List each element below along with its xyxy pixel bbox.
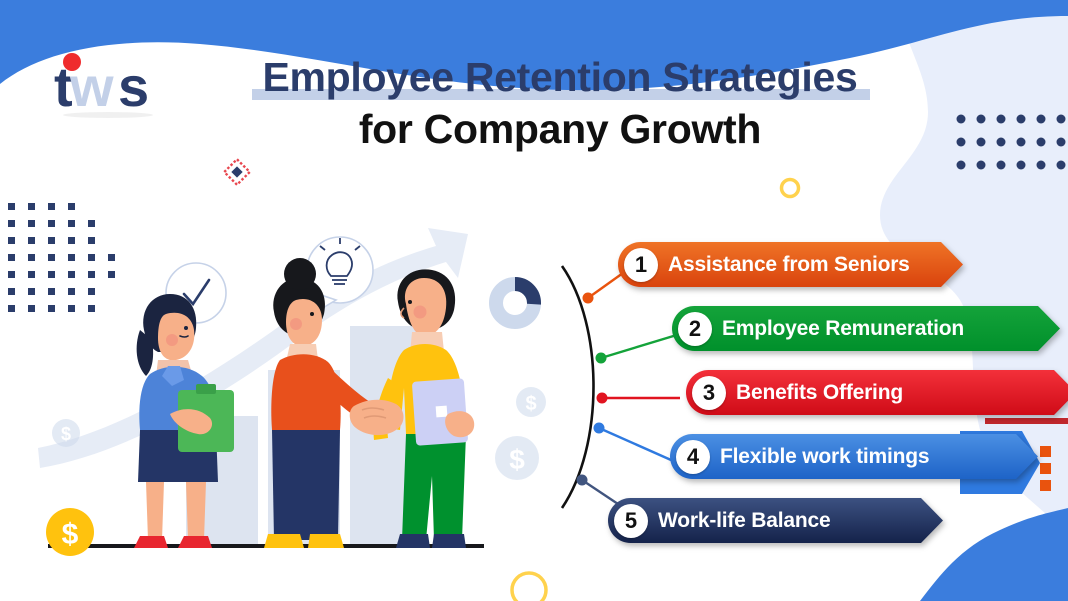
coin-dollar-symbol: $ [62,518,79,551]
faded-coin-b: $ [495,436,539,480]
gold-coin: $ [46,508,94,556]
progress-donut-chart [488,276,542,330]
strategy-label-5: Work-life Balance [658,509,830,533]
strategy-item-1-body: 1 Assistance from Seniors [618,242,963,287]
strategy-item-3-body: 3 Benefits Offering [686,370,1068,415]
strategy-label-4: Flexible work timings [720,445,929,469]
strategy-item-3[interactable]: 3 Benefits Offering [686,370,1068,415]
strategy-label-1: Assistance from Seniors [668,253,910,277]
strategy-number-5: 5 [614,504,648,538]
illustration-teamwork: $ [28,218,528,558]
dot-grid-right [957,115,1066,170]
strategy-item-4[interactable]: 4 Flexible work timings [670,434,1038,479]
yellow-ring-bottom-icon [512,573,546,601]
svg-text:$: $ [61,424,71,444]
strategy-list: 1 Assistance from Seniors 2 Employee Rem… [560,232,1060,562]
yellow-ring-top-icon [782,180,799,197]
strategy-item-1[interactable]: 1 Assistance from Seniors [618,242,963,287]
strategy-label-2: Employee Remuneration [722,317,964,341]
strategy-item-5-body: 5 Work-life Balance [608,498,943,543]
infographic-canvas: t w s Employee Retention Strategies for … [0,0,1068,601]
strategy-label-3: Benefits Offering [736,381,903,405]
svg-text:$: $ [509,444,525,475]
strategy-number-2: 2 [678,312,712,346]
strategy-number-1: 1 [624,248,658,282]
strategy-number-3: 3 [692,376,726,410]
diamond-marker [224,159,249,184]
strategy-number-4: 4 [676,440,710,474]
strategy-item-4-body: 4 Flexible work timings [670,434,1038,479]
strategy-item-2-body: 2 Employee Remuneration [672,306,1060,351]
svg-text:$: $ [525,393,536,415]
faded-coin-small: $ [52,419,80,447]
strategy-item-5[interactable]: 5 Work-life Balance [608,498,943,543]
strategy-item-2[interactable]: 2 Employee Remuneration [672,306,1060,351]
